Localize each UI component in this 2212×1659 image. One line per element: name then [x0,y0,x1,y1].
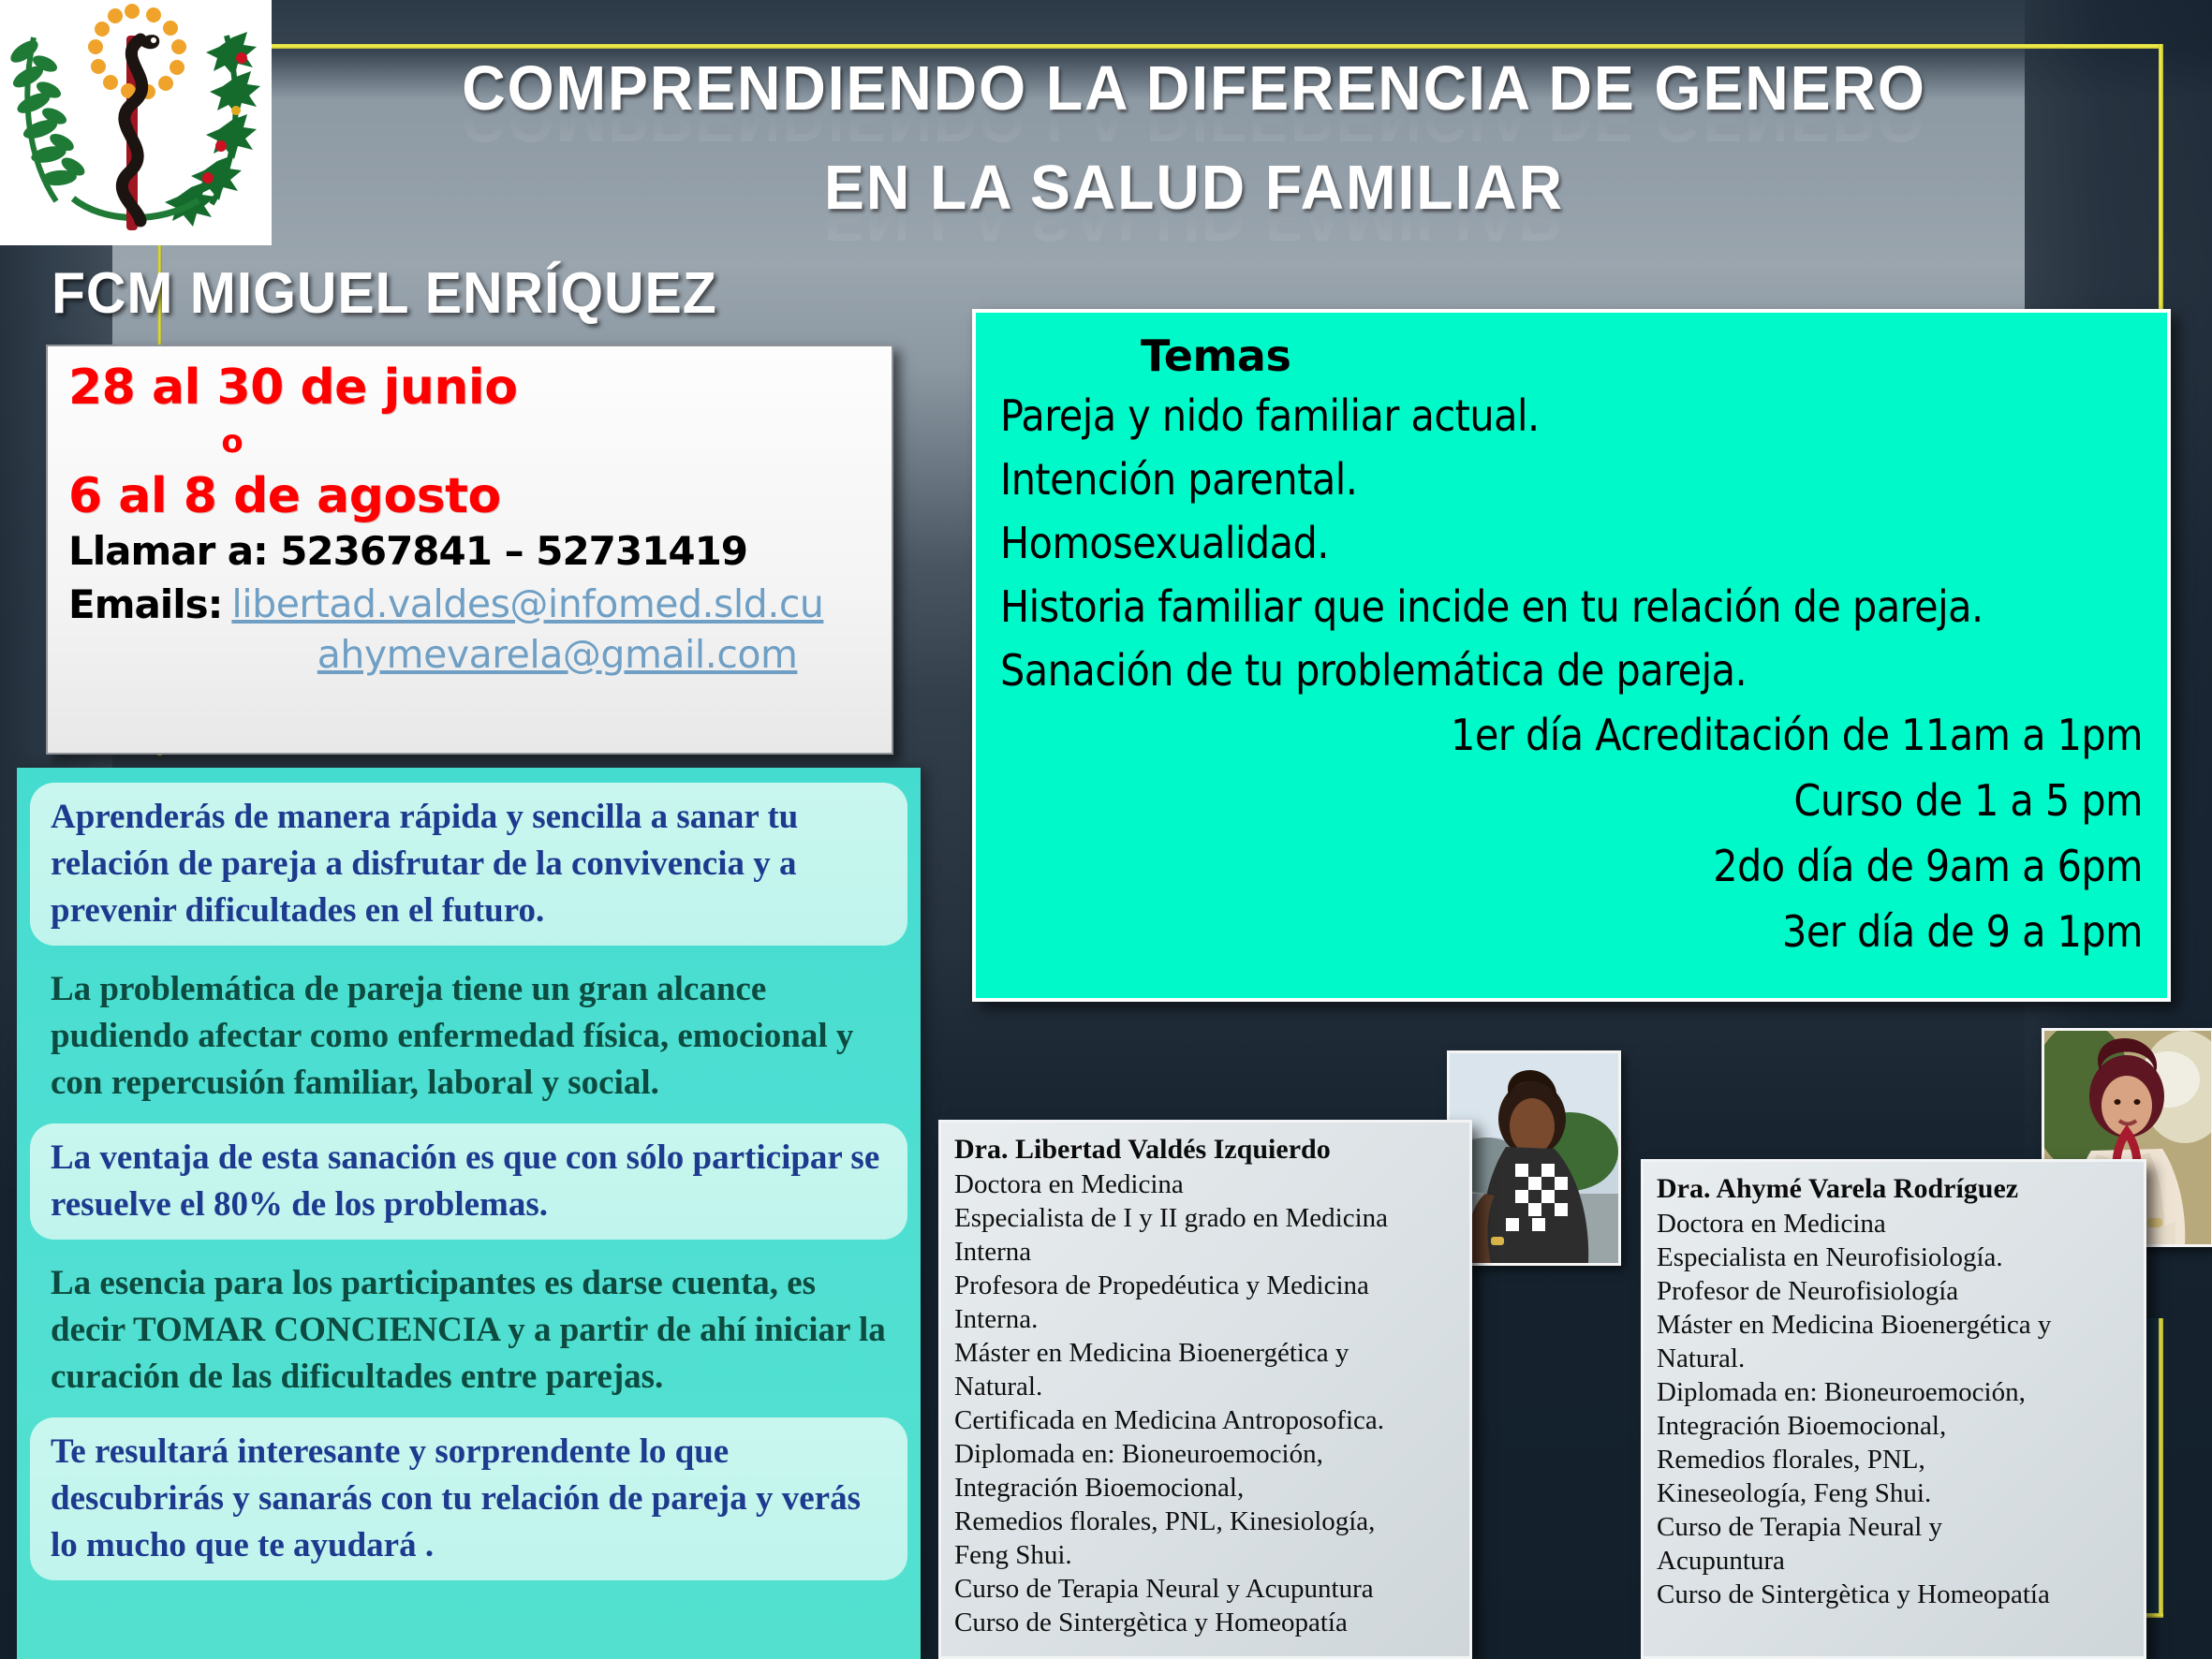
call-label: Llamar [68,528,214,574]
benefits-panel: Aprenderás de manera rápida y sencilla a… [17,768,921,1659]
title-line-2-reflection: EN LA SALUD FAMILIAR [317,210,2071,253]
credential-line: Curso de Sintergètica y Homeopatía [1657,1578,2131,1611]
credential-line: Acupuntura [1657,1544,2131,1578]
credential-line: Especialista en Neurofisiología. [1657,1241,2131,1274]
temas-item: Historia familiar que incide en tu relac… [1000,575,2143,639]
credential-line: Remedios florales, PNL, [1657,1443,2131,1476]
temas-box: Temas Pareja y nido familiar actual. Int… [972,309,2171,1002]
email-link-2[interactable]: ahymevarela@gmail.com [231,629,823,680]
credential-line: Interna. [954,1302,1456,1336]
schedule-line: 2do día de 9am a 6pm [1000,833,2143,899]
credential-line: Natural. [954,1370,1456,1403]
phone-row: Llamar a: 52367841 – 52731419 [68,524,875,579]
credential-line: Profesor de Neurofisiología [1657,1274,2131,1308]
benefit-item: La problemática de pareja tiene un gran … [30,955,907,1118]
institution-name: FCM MIGUEL ENRÍQUEZ [52,260,717,327]
benefit-text: La problemática de pareja tiene un gran … [51,966,887,1107]
speaker-photo-libertad-valdes [1447,1050,1621,1266]
credential-line: Curso de Terapia Neural y [1657,1510,2131,1544]
benefit-item: La ventaja de esta sanación es que con s… [30,1123,907,1240]
course-date-1: 28 al 30 de junio [68,360,875,416]
benefit-text: La esencia para los participantes es dar… [51,1260,887,1401]
email-link-1[interactable]: libertad.valdes@infomed.sld.cu [231,579,823,629]
credential-line: Integración Bioemocional, [954,1471,1456,1505]
email-list: libertad.valdes@infomed.sld.cu ahymevare… [231,579,823,680]
schedule-line: 1er día Acreditación de 11am a 1pm [1000,702,2143,768]
speaker-bio-card: Dra. Ahymé Varela Rodríguez Doctora en M… [1641,1159,2146,1659]
credential-line: Máster en Medicina Bioenergética y [1657,1308,2131,1342]
credential-line: Profesora de Propedéutica y Medicina [954,1269,1456,1302]
emails-label: Emails: [68,579,222,631]
credential-line: Interna [954,1235,1456,1269]
poster-canvas: COMPRENDIENDO LA DIFERENCIA DE GENERO CO… [0,0,2212,1659]
frame-top-line [159,44,2163,49]
credential-line: Curso de Sintergètica y Homeopatía [954,1606,1456,1639]
call-preposition: a: [228,528,268,574]
benefit-text: Aprenderás de manera rápida y sencilla a… [51,794,887,934]
emails-row: Emails: libertad.valdes@infomed.sld.cu a… [68,579,875,680]
temas-heading: Temas [1141,328,2143,384]
temas-item: Sanación de tu problemática de pareja. [1000,639,2143,702]
caduceus-laurel-wreath-logo [0,0,272,245]
schedule-line: Curso de 1 a 5 pm [1000,768,2143,833]
benefit-text: La ventaja de esta sanación es que con s… [51,1135,887,1228]
course-date-2: 6 al 8 de agosto [68,468,875,524]
credential-line: Diplomada en: Bioneuroemoción, [1657,1375,2131,1409]
temas-item: Homosexualidad. [1000,511,2143,575]
benefit-text: Te resultará interesante y sorprendente … [51,1429,887,1569]
temas-item: Intención parental. [1000,448,2143,511]
credential-line: Doctora en Medicina [954,1167,1456,1201]
benefit-item: La esencia para los participantes es dar… [30,1249,907,1412]
credential-line: Remedios florales, PNL, Kinesiología, [954,1505,1456,1538]
credential-line: Certificada en Medicina Antroposofica. [954,1403,1456,1437]
title-line-1-reflection: COMPRENDIENDO LA DIFERENCIA DE GENERO [317,110,2071,154]
date-conjunction: o [68,416,396,468]
credential-line: Curso de Terapia Neural y Acupuntura [954,1572,1456,1606]
speaker-name: Dra. Ahymé Varela Rodríguez [1657,1171,2131,1207]
phone-numbers: 52367841 – 52731419 [280,528,747,574]
schedule-line: 3er día de 9 a 1pm [1000,899,2143,964]
frame-right-line-lower [2159,1318,2163,1618]
credential-line: Feng Shui. [954,1538,1456,1572]
credential-line: Doctora en Medicina [1657,1207,2131,1241]
contact-box: 28 al 30 de junio o 6 al 8 de agosto Lla… [46,345,893,755]
credential-line: Máster en Medicina Bioenergética y [954,1336,1456,1370]
credential-line: Integración Bioemocional, [1657,1409,2131,1443]
poster-title: COMPRENDIENDO LA DIFERENCIA DE GENERO CO… [281,54,2107,253]
credential-line: Kineseología, Feng Shui. [1657,1476,2131,1510]
credential-line: Diplomada en: Bioneuroemoción, [954,1437,1456,1471]
speaker-name: Dra. Libertad Valdés Izquierdo [954,1132,1456,1167]
benefit-item: Aprenderás de manera rápida y sencilla a… [30,783,907,946]
benefit-item: Te resultará interesante y sorprendente … [30,1417,907,1580]
speaker-bio-card: Dra. Libertad Valdés Izquierdo Doctora e… [938,1120,1472,1659]
credential-line: Especialista de I y II grado en Medicina [954,1201,1456,1235]
credential-line: Natural. [1657,1342,2131,1375]
temas-item: Pareja y nido familiar actual. [1000,384,2143,448]
